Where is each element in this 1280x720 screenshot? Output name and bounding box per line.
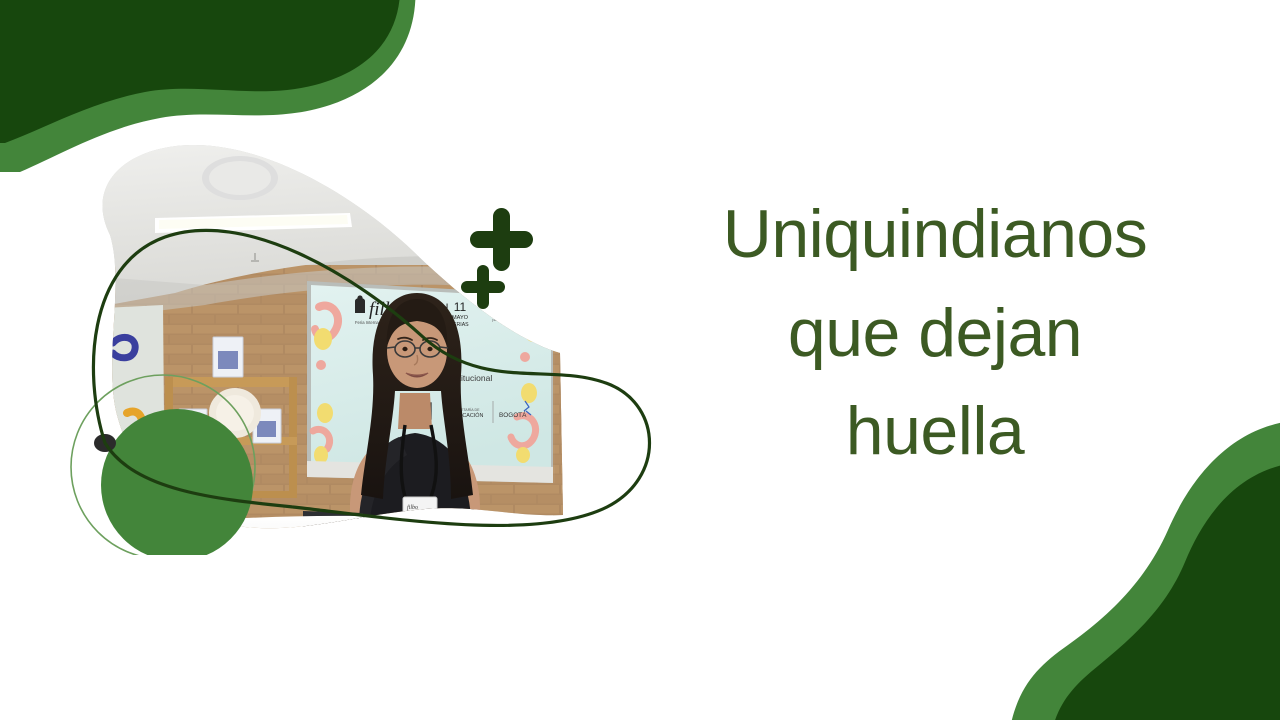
svg-text:LA: LA — [595, 427, 621, 450]
headline-line-3: huella — [655, 382, 1215, 481]
svg-text:11: 11 — [454, 300, 467, 314]
top-left-blob-dark-layer — [0, 0, 400, 143]
svg-text:país invitado de honor: país invitado de honor — [492, 317, 532, 322]
plus-sign-large — [470, 208, 533, 271]
page-title: Uniquindianos que dejan huella — [655, 185, 1215, 481]
svg-text:filbo: filbo — [407, 504, 418, 511]
svg-text:BOGOTÁ: BOGOTÁ — [499, 410, 527, 419]
svg-text:MAYO: MAYO — [452, 315, 469, 321]
slide-canvas: O Bogotá — [0, 0, 1280, 720]
headline-line-2: que dejan — [655, 284, 1215, 383]
headline-line-1: Uniquindianos — [655, 185, 1215, 284]
svg-text:DE: DE — [595, 451, 624, 474]
green-accent-circle — [101, 409, 253, 555]
bottom-right-blob-dark-layer — [1050, 462, 1280, 720]
right-poster: LA DE — [575, 301, 655, 543]
photo-composition: O Bogotá — [55, 125, 675, 555]
guest-country: ESPAÑA país invitado de honor — [486, 303, 538, 322]
svg-text:ESPAÑA: ESPAÑA — [486, 303, 538, 316]
